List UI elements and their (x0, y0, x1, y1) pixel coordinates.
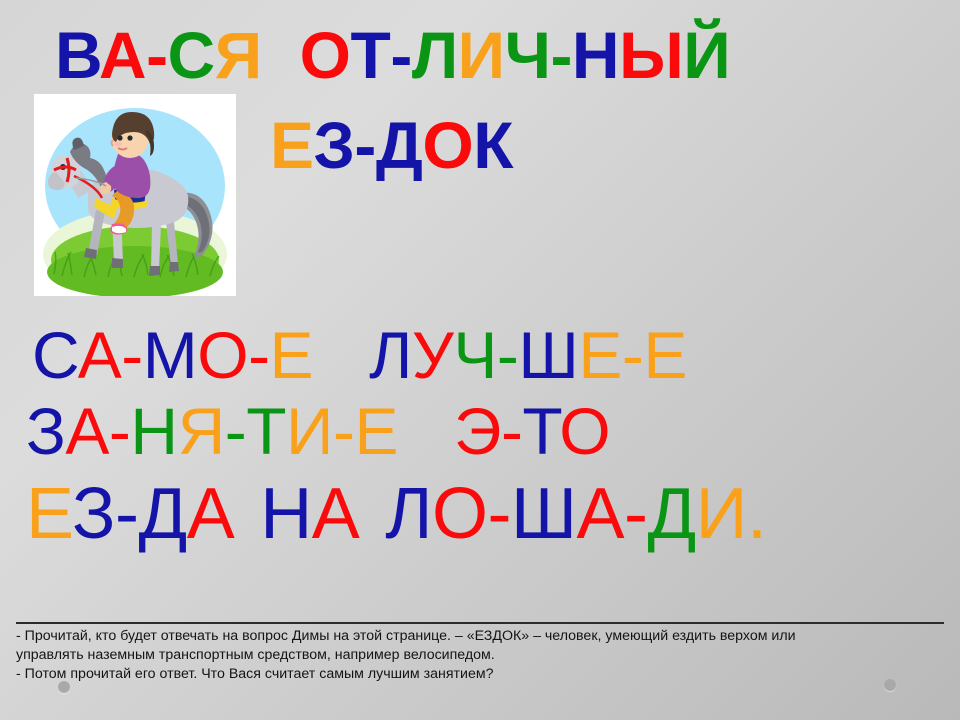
letter: Я (178, 394, 225, 468)
word-na: НА (260, 474, 359, 554)
letter: - (115, 474, 138, 554)
footer-notes: - Прочитай, кто будет отвечать на вопрос… (0, 614, 960, 720)
letter: - (146, 18, 167, 92)
letter: О (300, 18, 351, 92)
letter: О (559, 394, 610, 468)
letter: З (314, 108, 355, 182)
letter: Ч (453, 318, 497, 392)
letter: З (72, 474, 115, 554)
word-ezda: ЕЗ-ДА (26, 474, 234, 554)
letter: Е (578, 318, 622, 392)
letter: С (168, 18, 215, 92)
sentence-line-1: СА-МО-ЕЛУЧ-ШЕ-Е (32, 322, 687, 388)
letter: О (197, 318, 248, 392)
letter: - (390, 18, 411, 92)
letter: Ш (511, 474, 577, 554)
letter: А (78, 318, 122, 392)
decorative-dot-left (58, 681, 70, 693)
letter: Т (351, 18, 391, 92)
letter: Е (270, 318, 314, 392)
letter: К (473, 108, 513, 182)
letter: Я (215, 18, 262, 92)
word-loshadi: ЛО-ША-ДИ. (385, 474, 766, 554)
word-eto: Э-ТО (454, 394, 610, 468)
footer-line-2: управлять наземным транспортным средство… (16, 646, 946, 665)
letter: З (26, 394, 65, 468)
word-otlichnyy: ОТ-ЛИЧ-НЫЙ (300, 18, 731, 92)
sentence-line-3: ЕЗ-ДАНАЛО-ША-ДИ. (26, 478, 767, 550)
letter: - (622, 318, 643, 392)
letter: Т (522, 394, 559, 468)
letter: Л (412, 18, 458, 92)
letter: Ч (505, 18, 551, 92)
letter: Е (26, 474, 72, 554)
letter: - (248, 318, 269, 392)
decorative-dot-right (884, 679, 896, 691)
letter: Д (376, 108, 423, 182)
letter: - (501, 394, 522, 468)
word-ezdok: ЕЗ-ДОК (270, 108, 513, 182)
word-luchshee: ЛУЧ-ШЕ-Е (369, 318, 687, 392)
sentence-line-2: ЗА-НЯ-ТИ-ЕЭ-ТО (26, 398, 610, 464)
letter: Й (683, 18, 730, 92)
footer-divider (16, 622, 944, 624)
letter: Т (246, 394, 286, 468)
slide-canvas: ВА-СЯОТ-ЛИЧ-НЫЙ ЕЗ-ДОК (0, 0, 960, 720)
letter: У (412, 318, 453, 392)
letter: - (333, 394, 354, 468)
headline-line-1: ВА-СЯОТ-ЛИЧ-НЫЙ (55, 22, 730, 88)
letter: - (550, 18, 571, 92)
letter: А (312, 474, 360, 554)
letter: - (121, 318, 142, 392)
letter: И (458, 18, 505, 92)
letter: М (143, 318, 197, 392)
word-zanyatie: ЗА-НЯ-ТИ-Е (26, 394, 398, 468)
letter: А (65, 394, 109, 468)
letter: С (32, 318, 78, 392)
word-samoe: СА-МО-Е (32, 318, 313, 392)
letter: Л (369, 318, 412, 392)
letter: Д (648, 474, 696, 554)
letter: - (624, 474, 647, 554)
letter: Е (354, 394, 398, 468)
letter: И (286, 394, 333, 468)
letter: Л (385, 474, 432, 554)
letter: И (696, 474, 747, 554)
letter: . (747, 474, 767, 554)
letter: О (422, 108, 473, 182)
word-vasya: ВА-СЯ (55, 18, 262, 92)
footer-line-1: - Прочитай, кто будет отвечать на вопрос… (16, 627, 946, 646)
letter: - (354, 108, 375, 182)
headline-line-2: ЕЗ-ДОК (270, 112, 513, 178)
letter: Э (454, 394, 501, 468)
boy-riding-horse-illustration (34, 94, 236, 296)
letter: О (432, 474, 488, 554)
letter: - (488, 474, 511, 554)
letter: Д (138, 474, 186, 554)
letter: - (109, 394, 130, 468)
letter: В (55, 18, 99, 92)
letter: Е (270, 108, 314, 182)
footer-text: - Прочитай, кто будет отвечать на вопрос… (16, 627, 946, 684)
letter: Ш (518, 318, 578, 392)
letter: Н (130, 394, 177, 468)
letter: А (99, 18, 146, 92)
letter: - (225, 394, 246, 468)
letter: Н (572, 18, 619, 92)
letter: - (497, 318, 518, 392)
letter: Ы (619, 18, 683, 92)
letter: Н (260, 474, 312, 554)
letter: Е (643, 318, 687, 392)
letter: А (187, 474, 235, 554)
footer-line-3: - Потом прочитай его ответ. Что Вася счи… (16, 665, 946, 684)
horse-rider-svg (34, 94, 236, 296)
letter: А (577, 474, 625, 554)
